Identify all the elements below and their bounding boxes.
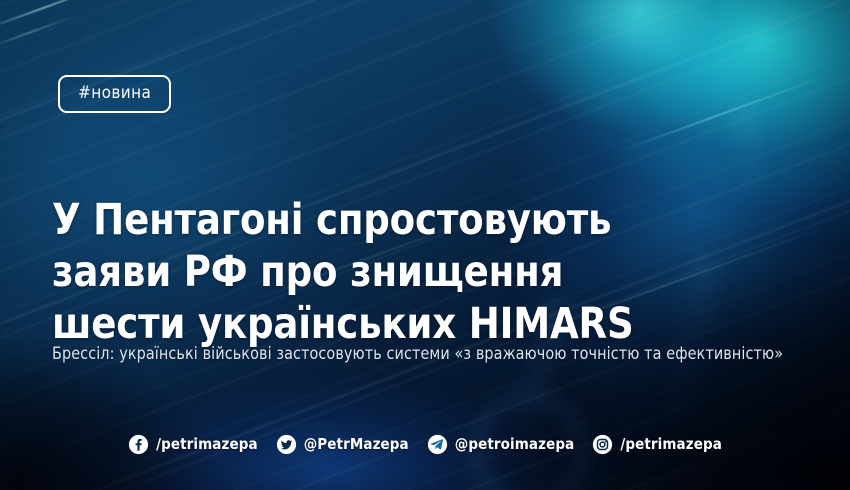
news-banner-card: #новина У Пентагоні спростовують заяви Р… — [0, 0, 850, 490]
telegram-handle: @petroimazepa — [455, 437, 575, 452]
twitter-icon — [276, 434, 297, 455]
facebook-handle: /petrimazepa — [156, 437, 258, 452]
instagram-handle: /petrimazepa — [620, 437, 722, 452]
social-link-facebook[interactable]: /petrimazepa — [128, 434, 258, 455]
subtitle-text: Бресcіл: українські військові застосовую… — [52, 343, 789, 365]
banner-content: #новина У Пентагоні спростовують заяви Р… — [0, 0, 850, 490]
category-tag-badge[interactable]: #новина — [58, 75, 171, 113]
social-link-twitter[interactable]: @PetrMazepa — [276, 434, 409, 455]
social-link-instagram[interactable]: /petrimazepa — [592, 434, 722, 455]
telegram-icon — [427, 434, 448, 455]
twitter-handle: @PetrMazepa — [304, 437, 409, 452]
social-links-bar: /petrimazepa @PetrMazepa @petroimazepa — [0, 434, 850, 455]
facebook-icon — [128, 434, 149, 455]
instagram-icon — [592, 434, 613, 455]
headline-title: У Пентагоні спростовують заяви РФ про зн… — [52, 194, 676, 350]
social-link-telegram[interactable]: @petroimazepa — [427, 434, 575, 455]
